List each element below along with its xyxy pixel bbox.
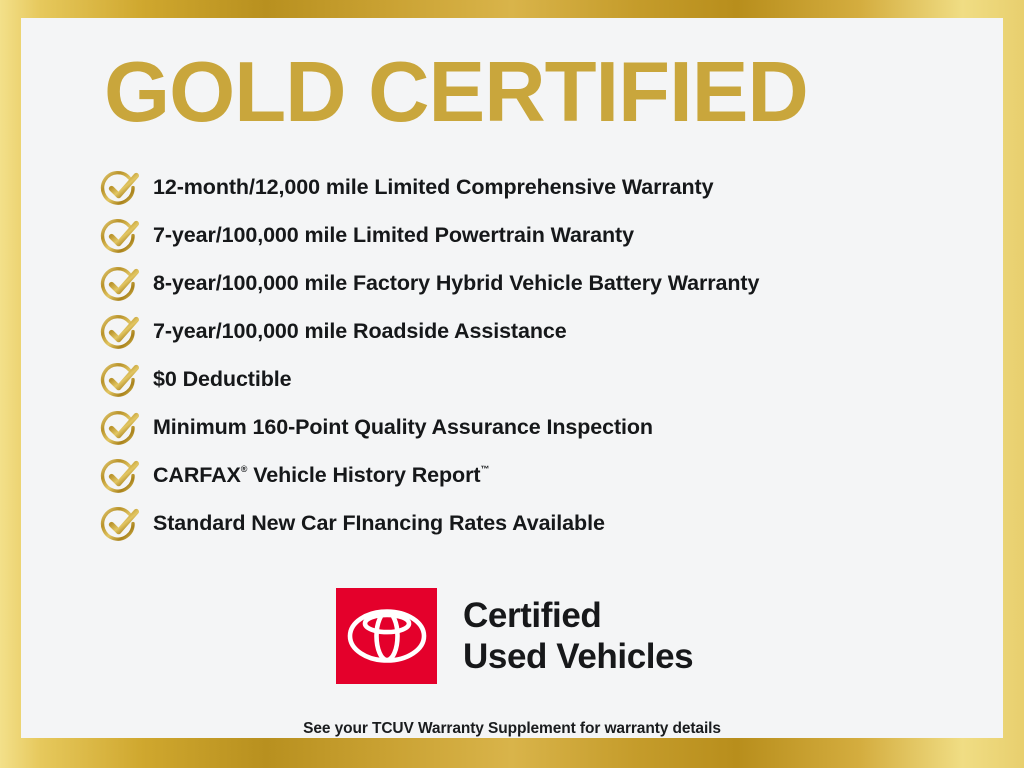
logo-wordmark-line1: Certified	[463, 595, 693, 636]
toyota-emblem-icon	[346, 606, 428, 666]
list-item: $0 Deductible	[94, 356, 984, 404]
feature-list: 12-month/12,000 mile Limited Comprehensi…	[94, 164, 984, 548]
carfax-middle: Vehicle History Report	[247, 463, 480, 487]
check-circle-icon	[100, 360, 142, 400]
toyota-logo-tile	[336, 588, 437, 684]
list-item: Standard New Car FInancing Rates Availab…	[94, 500, 984, 548]
list-item: 12-month/12,000 mile Limited Comprehensi…	[94, 164, 984, 212]
check-circle-icon	[100, 264, 142, 304]
check-circle-icon	[100, 312, 142, 352]
feature-label: 7-year/100,000 mile Limited Powertrain W…	[153, 225, 634, 247]
toyota-certified-used-vehicles-logo: Certified Used Vehicles	[336, 578, 736, 694]
badge-card: GOLD CERTIFIED	[21, 18, 1003, 738]
feature-label: 12-month/12,000 mile Limited Comprehensi…	[153, 177, 713, 199]
feature-label: Minimum 160-Point Quality Assurance Insp…	[153, 417, 653, 439]
list-item: CARFAX® Vehicle History Report™	[94, 452, 984, 500]
feature-label: $0 Deductible	[153, 369, 292, 391]
logo-wordmark: Certified Used Vehicles	[463, 595, 693, 677]
list-item: 7-year/100,000 mile Limited Powertrain W…	[94, 212, 984, 260]
check-circle-icon	[100, 168, 142, 208]
gold-certified-badge: GOLD CERTIFIED	[0, 0, 1024, 768]
carfax-brand: CARFAX	[153, 463, 241, 487]
feature-label: 7-year/100,000 mile Roadside Assistance	[153, 321, 567, 343]
check-circle-icon	[100, 504, 142, 544]
list-item: 8-year/100,000 mile Factory Hybrid Vehic…	[94, 260, 984, 308]
check-circle-icon	[100, 456, 142, 496]
list-item: Minimum 160-Point Quality Assurance Insp…	[94, 404, 984, 452]
feature-label: Standard New Car FInancing Rates Availab…	[153, 513, 605, 535]
feature-label: 8-year/100,000 mile Factory Hybrid Vehic…	[153, 273, 759, 295]
registered-mark-icon: ®	[241, 464, 248, 474]
list-item: 7-year/100,000 mile Roadside Assistance	[94, 308, 984, 356]
warranty-footnote: See your TCUV Warranty Supplement for wa…	[21, 720, 1003, 738]
check-circle-icon	[100, 408, 142, 448]
page-title: GOLD CERTIFIED	[104, 48, 934, 138]
feature-label-carfax: CARFAX® Vehicle History Report™	[153, 465, 489, 487]
logo-wordmark-line2: Used Vehicles	[463, 636, 693, 677]
check-circle-icon	[100, 216, 142, 256]
trademark-mark-icon: ™	[480, 464, 489, 474]
